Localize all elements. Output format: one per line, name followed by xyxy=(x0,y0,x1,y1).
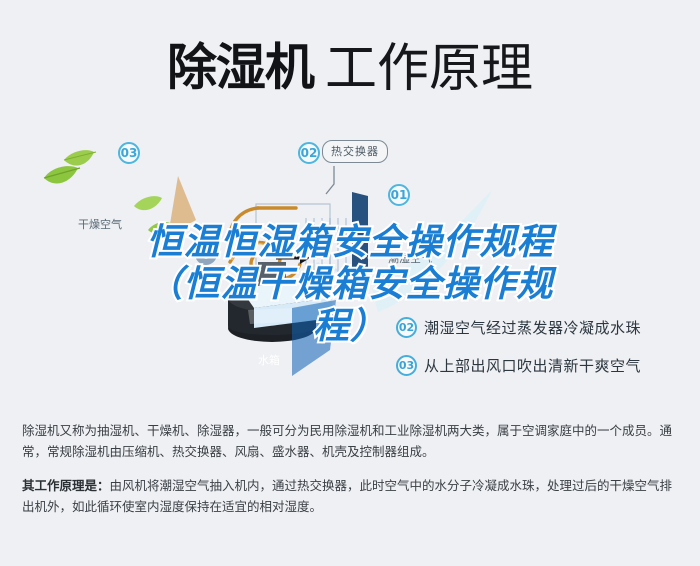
label-humid-air: 潮湿空气 xyxy=(388,250,432,266)
body-copy: 除湿机又称为抽湿机、干燥机、除湿器，一般可分为民用除湿机和工业除湿机两大类，属于… xyxy=(22,420,682,530)
label-dry-air: 干燥空气 xyxy=(78,216,122,232)
page-title-light: 工作原理 xyxy=(325,39,533,99)
paragraph-2-text: 由风机将潮湿空气抽入机内，通过热交换器，此时空气中的水分子冷凝成水珠，处理过后的… xyxy=(22,478,672,514)
water-tank xyxy=(240,280,336,376)
list-item: 02 潮湿空气经过蒸发器冷凝成水珠 xyxy=(396,308,696,346)
page-title-bold: 除湿机 xyxy=(167,39,314,97)
paragraph-1-text: 除湿机又称为抽湿机、干燥机、除湿器，一般可分为民用除湿机和工业除湿机两大类，属于… xyxy=(22,420,682,462)
list-item: 03 从上部出风口吹出清新干爽空气 xyxy=(396,346,696,384)
dehumidifier-diagram: 03 02 01 热交换器 干燥空气 潮湿空气 水箱 02 潮湿空气经过蒸发器冷… xyxy=(0,112,700,402)
paragraph-1: 除湿机又称为抽湿机、干燥机、除湿器，一般可分为民用除湿机和工业除湿机两大类，属于… xyxy=(22,420,682,462)
heat-exchanger xyxy=(298,192,368,282)
step-text-02: 潮湿空气经过蒸发器冷凝成水珠 xyxy=(424,317,641,338)
infographic-page: 除湿机 工作原理 xyxy=(0,0,700,566)
page-title: 除湿机 工作原理 xyxy=(0,26,700,101)
diagram-badge-01: 01 xyxy=(388,184,410,206)
diagram-badge-03: 03 xyxy=(118,142,140,164)
paragraph-2: 其工作原理是：由风机将潮湿空气抽入机内，通过热交换器，此时空气中的水分子冷凝成水… xyxy=(22,475,682,517)
step-list: 02 潮湿空气经过蒸发器冷凝成水珠 03 从上部出风口吹出清新干爽空气 xyxy=(396,308,696,384)
label-water-tank: 水箱 xyxy=(258,352,280,368)
step-text-03: 从上部出风口吹出清新干爽空气 xyxy=(424,355,641,376)
step-badge-02: 02 xyxy=(396,317,417,338)
diagram-badge-02: 02 xyxy=(298,142,320,164)
heat-exchanger-callout: 热交换器 xyxy=(322,140,388,163)
step-badge-03: 03 xyxy=(396,355,417,376)
paragraph-2-label: 其工作原理是： xyxy=(22,478,110,493)
